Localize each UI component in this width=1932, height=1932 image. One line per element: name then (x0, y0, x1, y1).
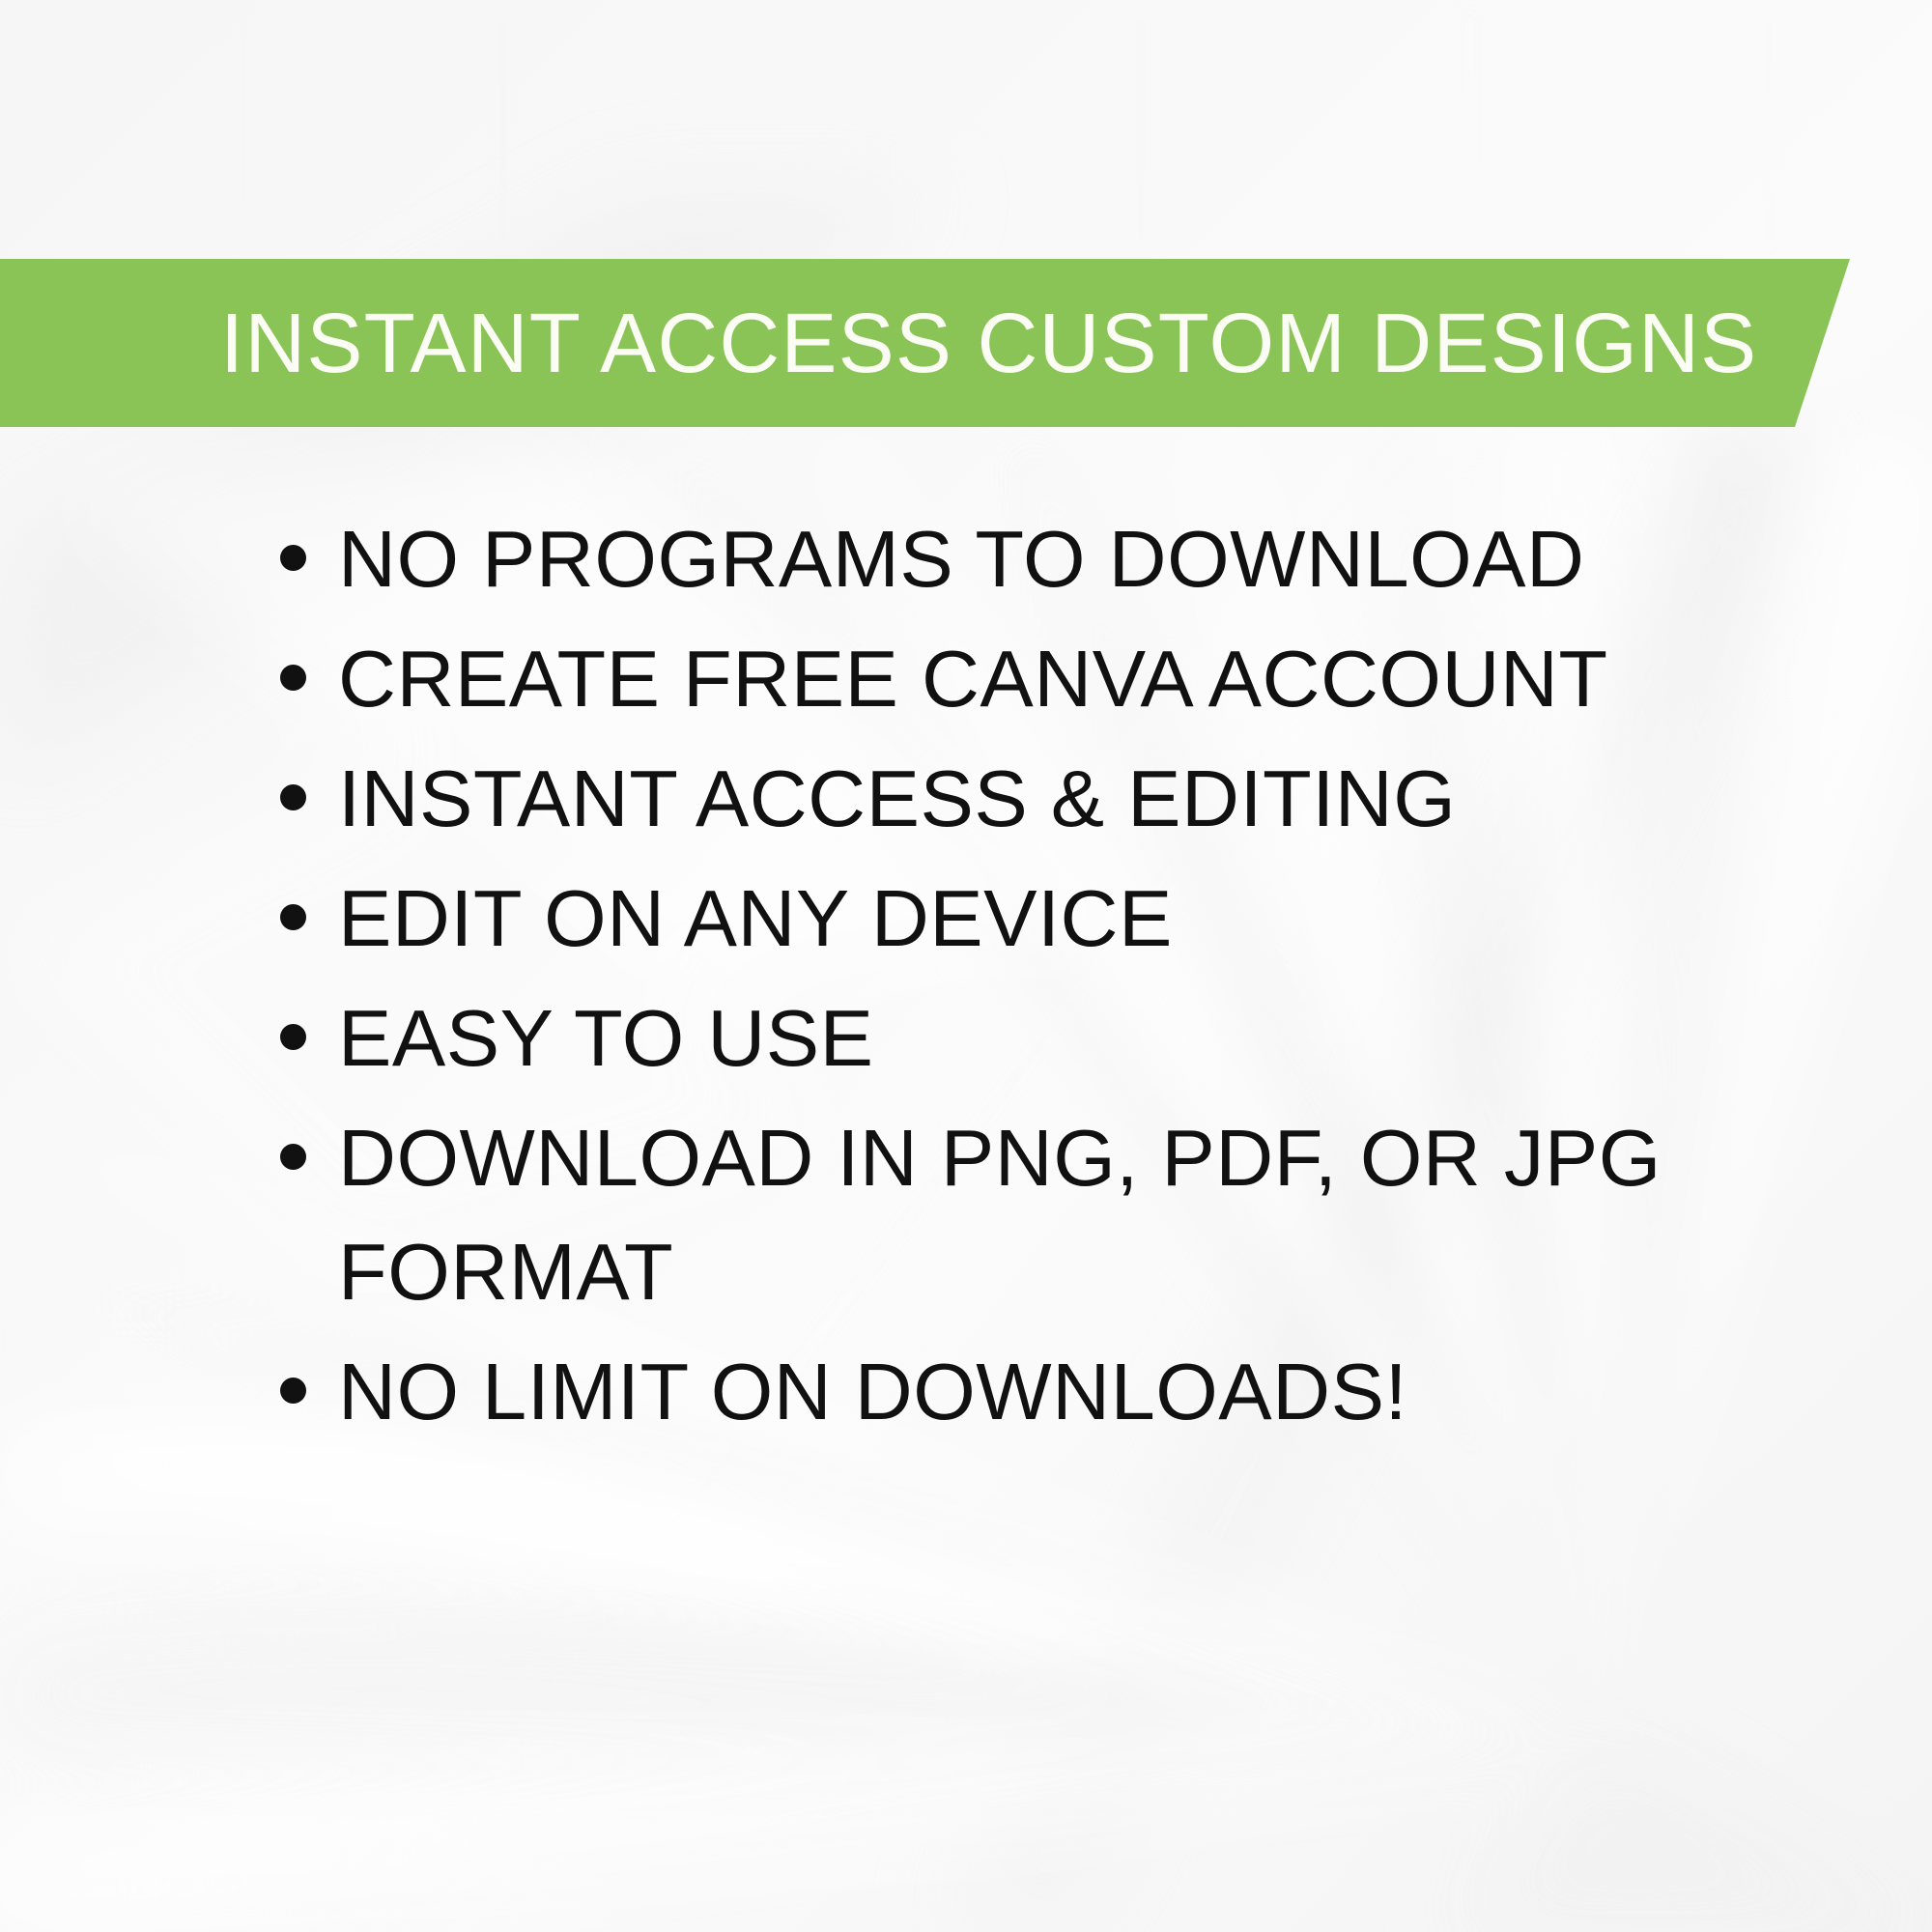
list-item-label: DOWNLOAD IN PNG, PDF, OR JPG FORMAT (338, 1101, 1710, 1329)
bullet-dot-icon (280, 665, 306, 691)
bullet-dot-cell (280, 1101, 338, 1170)
bullet-dot-cell (280, 862, 338, 930)
promo-graphic: INSTANT ACCESS CUSTOM DESIGNS NO PROGRAM… (0, 0, 1932, 1932)
bullet-dot-icon (280, 1144, 306, 1170)
bullet-dot-icon (280, 784, 306, 810)
list-item-label: CREATE FREE CANVA ACCOUNT (338, 622, 1710, 736)
list-item-label: EASY TO USE (338, 981, 1710, 1095)
bullet-dot-icon (280, 1024, 306, 1050)
bullet-dot-cell (280, 502, 338, 571)
list-item: CREATE FREE CANVA ACCOUNT (280, 622, 1710, 736)
list-item: EASY TO USE (280, 981, 1710, 1095)
bullet-dot-cell (280, 622, 338, 691)
list-item-label: EDIT ON ANY DEVICE (338, 862, 1710, 976)
list-item: INSTANT ACCESS & EDITING (280, 742, 1710, 856)
list-item: NO PROGRAMS TO DOWNLOAD (280, 502, 1710, 616)
list-item: EDIT ON ANY DEVICE (280, 862, 1710, 976)
list-item-label: INSTANT ACCESS & EDITING (338, 742, 1710, 856)
list-item-label: NO PROGRAMS TO DOWNLOAD (338, 502, 1710, 616)
bullet-dot-icon (280, 904, 306, 930)
bullet-dot-icon (280, 545, 306, 571)
list-item: NO LIMIT ON DOWNLOADS! (280, 1335, 1710, 1449)
feature-list: NO PROGRAMS TO DOWNLOAD CREATE FREE CANV… (280, 502, 1710, 1455)
bullet-dot-icon (280, 1378, 306, 1404)
list-item: DOWNLOAD IN PNG, PDF, OR JPG FORMAT (280, 1101, 1710, 1329)
banner-title: INSTANT ACCESS CUSTOM DESIGNS (220, 259, 1766, 427)
bullet-dot-cell (280, 1335, 338, 1404)
list-item-label: NO LIMIT ON DOWNLOADS! (338, 1335, 1710, 1449)
bullet-dot-cell (280, 742, 338, 810)
bullet-dot-cell (280, 981, 338, 1050)
